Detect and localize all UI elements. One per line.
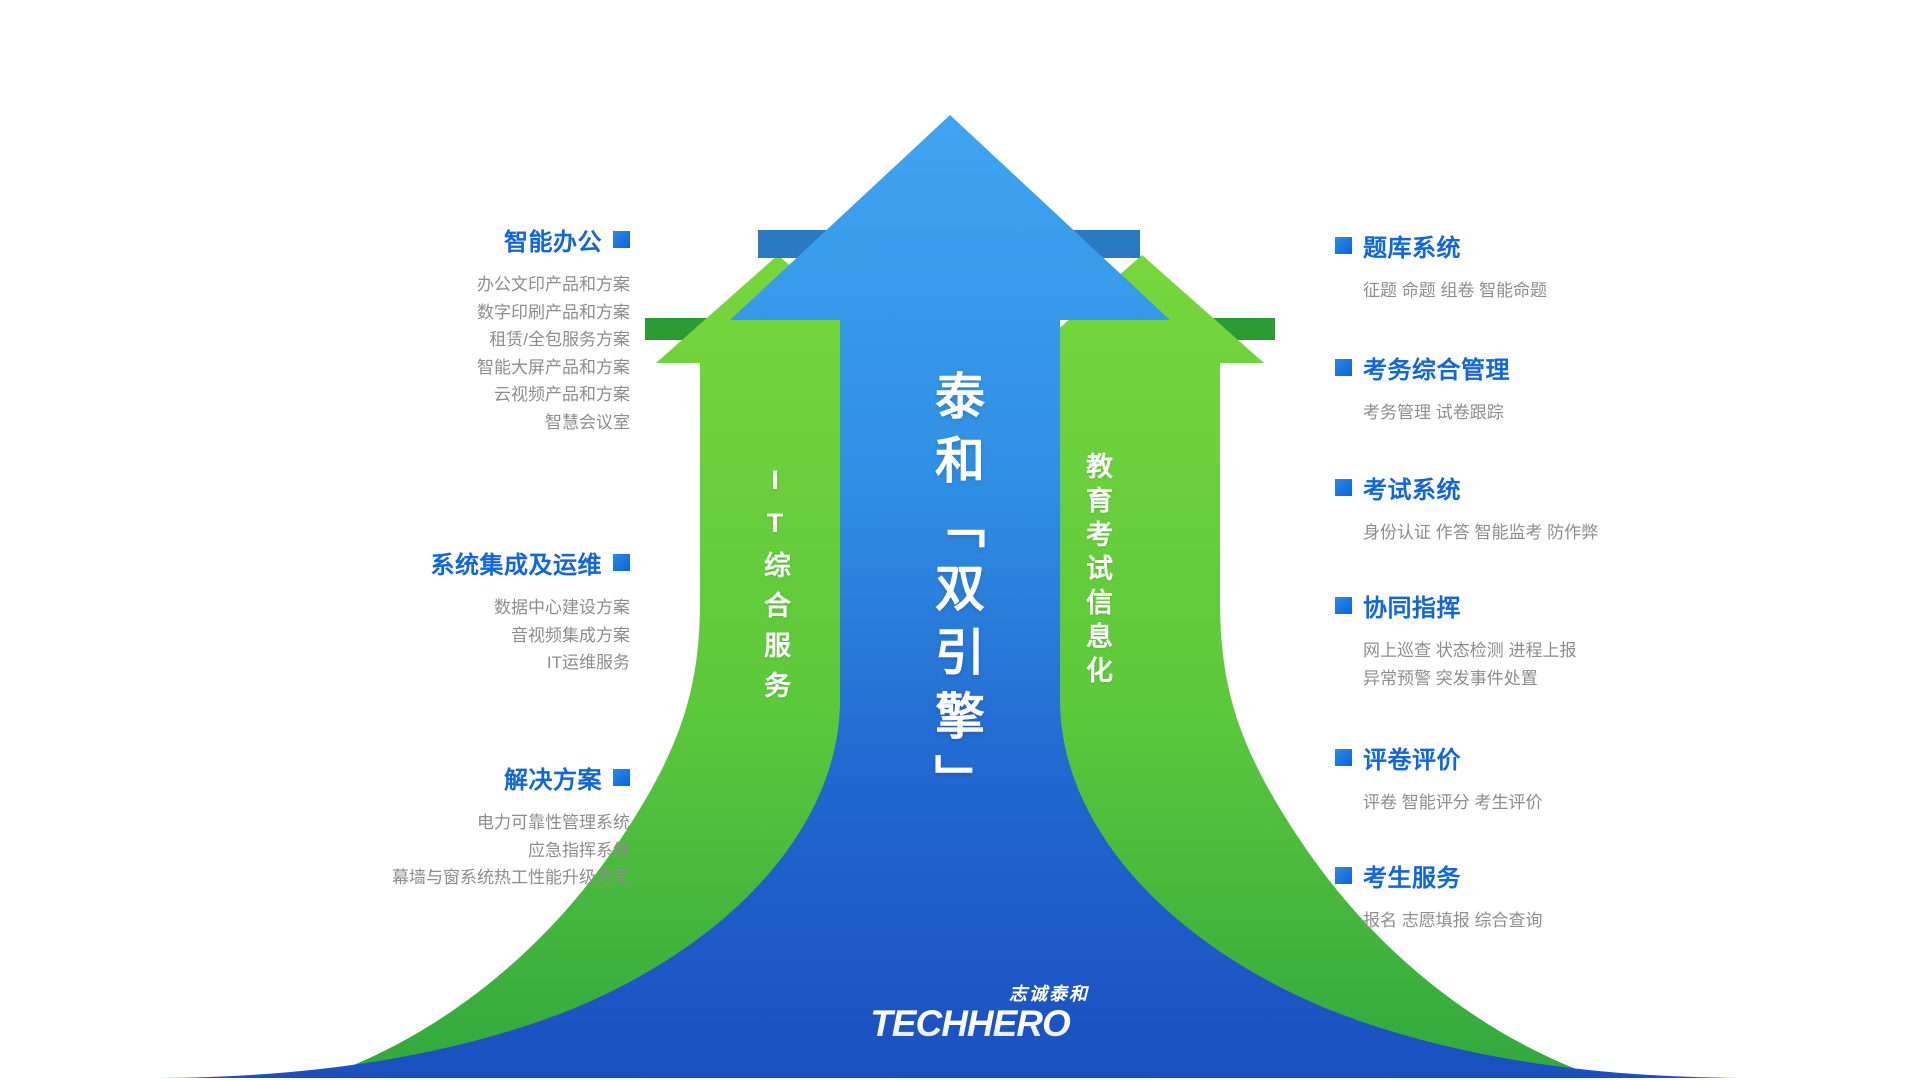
right-group-0-items: 征题 命题 组卷 智能命题: [1363, 277, 1815, 305]
list-item: 评卷 智能评分 考生评价: [1363, 789, 1815, 817]
list-item: 数据中心建设方案: [150, 594, 630, 622]
right-group-4: 评卷评价 评卷 智能评分 考生评价: [1335, 740, 1815, 817]
left-group-1: 系统集成及运维 数据中心建设方案 音视频集成方案 IT运维服务: [150, 545, 630, 677]
list-item: 身份认证 作答 智能监考 防作弊: [1363, 519, 1815, 547]
list-item: 音视频集成方案: [150, 622, 630, 650]
logo-english-name: TECHHERO: [845, 1005, 1095, 1042]
square-bullet-icon: [613, 554, 630, 571]
right-group-3-items: 网上巡查 状态检测 进程上报 异常预警 突发事件处置: [1363, 637, 1815, 692]
list-item: 异常预警 突发事件处置: [1363, 665, 1815, 693]
left-group-2-title: 解决方案: [504, 760, 602, 795]
left-group-1-items: 数据中心建设方案 音视频集成方案 IT运维服务: [150, 594, 630, 677]
list-item: 电力可靠性管理系统: [150, 809, 630, 837]
right-group-2: 考试系统 身份认证 作答 智能监考 防作弊: [1335, 470, 1815, 547]
left-group-1-title: 系统集成及运维: [431, 545, 603, 580]
square-bullet-icon: [1335, 237, 1352, 254]
right-group-0-heading: 题库系统: [1335, 228, 1815, 263]
right-group-5-items: 报名 志愿填报 综合查询: [1363, 907, 1815, 935]
right-group-5-heading: 考生服务: [1335, 858, 1815, 893]
left-arrow-label: IT综合服务: [756, 465, 795, 711]
list-item: 应急指挥系统: [150, 837, 630, 865]
right-group-5-title: 考生服务: [1363, 858, 1461, 893]
right-group-1-heading: 考务综合管理: [1335, 350, 1815, 385]
left-group-0-heading: 智能办公: [150, 222, 630, 257]
right-group-3-heading: 协同指挥: [1335, 588, 1815, 623]
square-bullet-icon: [1335, 479, 1352, 496]
left-group-1-heading: 系统集成及运维: [150, 545, 630, 580]
right-group-2-heading: 考试系统: [1335, 470, 1815, 505]
list-item: 网上巡查 状态检测 进程上报: [1363, 637, 1815, 665]
right-group-2-title: 考试系统: [1363, 470, 1461, 505]
list-item: 智能大屏产品和方案: [150, 354, 630, 382]
square-bullet-icon: [1335, 597, 1352, 614]
list-item: 数字印刷产品和方案: [150, 299, 630, 327]
square-bullet-icon: [1335, 867, 1352, 884]
left-group-2-items: 电力可靠性管理系统 应急指挥系统 幕墙与窗系统热工性能升级方案: [150, 809, 630, 892]
center-arrow-label: 泰和「双引擎」: [920, 370, 992, 818]
right-group-1-items: 考务管理 试卷跟踪: [1363, 399, 1815, 427]
left-group-0-items: 办公文印产品和方案 数字印刷产品和方案 租赁/全包服务方案 智能大屏产品和方案 …: [150, 271, 630, 436]
square-bullet-icon: [1335, 359, 1352, 376]
list-item: 幕墙与窗系统热工性能升级方案: [150, 864, 630, 892]
company-logo: 志诚泰和 TECHHERO: [845, 985, 1095, 1042]
left-group-2-heading: 解决方案: [150, 760, 630, 795]
left-group-2: 解决方案 电力可靠性管理系统 应急指挥系统 幕墙与窗系统热工性能升级方案: [150, 760, 630, 892]
logo-chinese-name: 志诚泰和: [845, 985, 1095, 1003]
list-item: IT运维服务: [150, 649, 630, 677]
left-group-0: 智能办公 办公文印产品和方案 数字印刷产品和方案 租赁/全包服务方案 智能大屏产…: [150, 222, 630, 436]
list-item: 征题 命题 组卷 智能命题: [1363, 277, 1815, 305]
list-item: 办公文印产品和方案: [150, 271, 630, 299]
list-item: 考务管理 试卷跟踪: [1363, 399, 1815, 427]
square-bullet-icon: [613, 231, 630, 248]
right-group-3: 协同指挥 网上巡查 状态检测 进程上报 异常预警 突发事件处置: [1335, 588, 1815, 692]
square-bullet-icon: [1335, 749, 1352, 766]
right-group-2-items: 身份认证 作答 智能监考 防作弊: [1363, 519, 1815, 547]
right-arrow-label: 教育考试信息化: [1078, 452, 1117, 690]
right-group-0: 题库系统 征题 命题 组卷 智能命题: [1335, 228, 1815, 305]
infographic-canvas: IT综合服务 教育考试信息化 泰和「双引擎」 智能办公 办公文印产品和方案 数字…: [0, 0, 1920, 1080]
right-group-1: 考务综合管理 考务管理 试卷跟踪: [1335, 350, 1815, 427]
right-group-0-title: 题库系统: [1363, 228, 1461, 263]
right-group-3-title: 协同指挥: [1363, 588, 1461, 623]
square-bullet-icon: [613, 769, 630, 786]
right-group-4-heading: 评卷评价: [1335, 740, 1815, 775]
right-group-4-items: 评卷 智能评分 考生评价: [1363, 789, 1815, 817]
list-item: 租赁/全包服务方案: [150, 326, 630, 354]
right-group-4-title: 评卷评价: [1363, 740, 1461, 775]
list-item: 云视频产品和方案: [150, 381, 630, 409]
list-item: 智慧会议室: [150, 409, 630, 437]
right-group-1-title: 考务综合管理: [1363, 350, 1510, 385]
right-group-5: 考生服务 报名 志愿填报 综合查询: [1335, 858, 1815, 935]
list-item: 报名 志愿填报 综合查询: [1363, 907, 1815, 935]
left-group-0-title: 智能办公: [504, 222, 602, 257]
